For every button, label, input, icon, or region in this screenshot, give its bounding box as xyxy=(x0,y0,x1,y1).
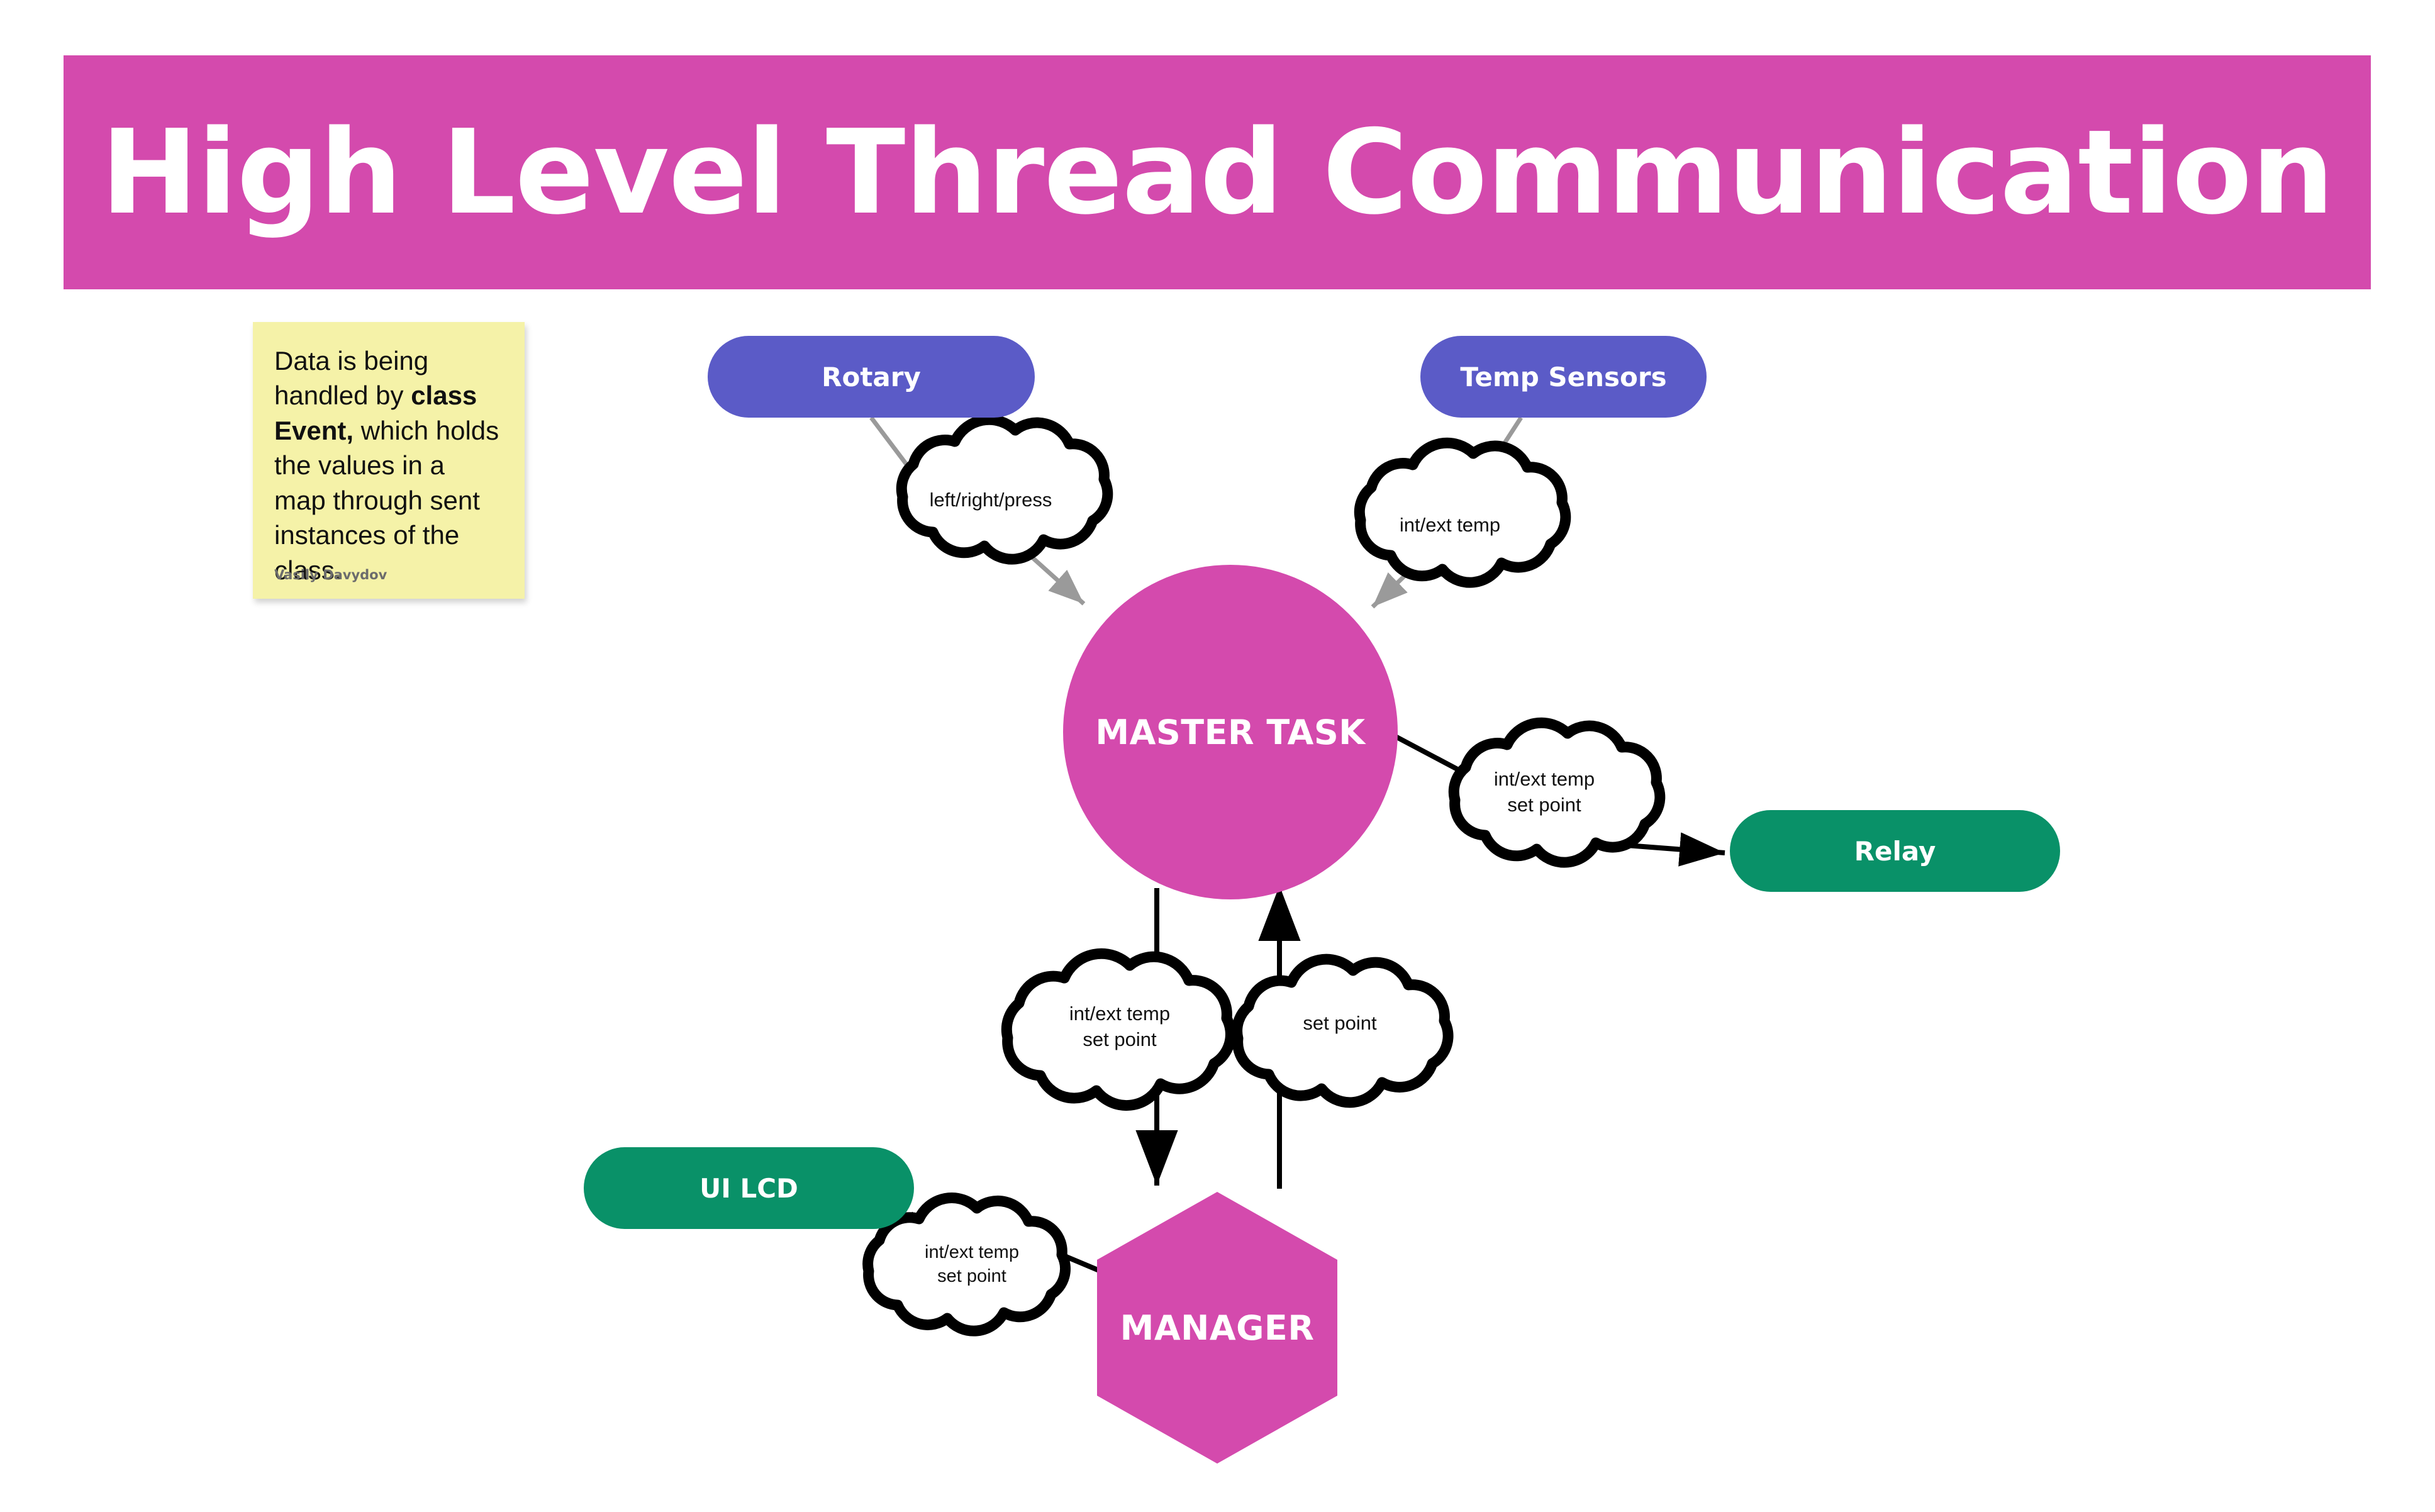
node-temp-sensors[interactable]: Temp Sensors xyxy=(1420,336,1707,418)
cloud-label-manager-to-lcd: int/ext temp set point xyxy=(878,1233,1066,1296)
title-banner: High Level Thread Communication xyxy=(64,55,2371,289)
edge-rotary-cloud-to-master xyxy=(1003,531,1084,604)
diagram-canvas: High Level Thread Communication Data is … xyxy=(0,0,2435,1512)
node-ui-lcd-label: UI LCD xyxy=(699,1173,798,1204)
node-rotary-label: Rotary xyxy=(822,362,921,392)
node-relay[interactable]: Relay xyxy=(1730,810,2060,892)
edge-temp-sensors-to-cloud xyxy=(1466,418,1521,503)
page-title: High Level Thread Communication xyxy=(101,114,2334,231)
cloud-label-manager-to-master: set point xyxy=(1239,1000,1440,1047)
node-master-task-label: MASTER TASK xyxy=(1095,713,1365,752)
cloud-temp-readings xyxy=(1359,443,1566,582)
node-rotary[interactable]: Rotary xyxy=(708,336,1035,418)
sticky-note-text: Data is being handled by class Event, wh… xyxy=(274,343,501,587)
sticky-note: Data is being handled by class Event, wh… xyxy=(253,322,525,599)
cloud-rotary-events xyxy=(901,420,1108,559)
edge-temp-cloud-to-master xyxy=(1373,547,1434,607)
cloud-label-rotary-events: left/right/press xyxy=(893,478,1088,522)
sticky-text-part-1: Data is being handled by xyxy=(274,346,428,410)
cloud-relay-setpoint xyxy=(1454,723,1660,862)
edge-manager-to-lcd-cloud xyxy=(1032,1242,1102,1272)
sticky-note-author: Vasily Davydov xyxy=(274,567,387,582)
node-relay-label: Relay xyxy=(1854,836,1936,867)
edge-relay-cloud-to-relay xyxy=(1610,844,1725,853)
node-temp-sensors-label: Temp Sensors xyxy=(1460,362,1666,392)
node-manager[interactable]: MANAGER xyxy=(1097,1192,1337,1464)
cloud-label-master-to-manager: int/ext temp set point xyxy=(1016,994,1223,1060)
node-ui-lcd[interactable]: UI LCD xyxy=(584,1147,914,1229)
cloud-label-temp-readings: int/ext temp xyxy=(1352,503,1547,547)
node-manager-label: MANAGER xyxy=(1120,1308,1315,1348)
cloud-manager-to-master xyxy=(1237,959,1448,1103)
edge-rotary-to-cloud xyxy=(871,418,931,497)
cloud-master-to-manager xyxy=(1006,953,1230,1105)
cloud-label-relay-setpoint: int/ext temp set point xyxy=(1447,761,1642,824)
edge-lcd-cloud-to-uilcd xyxy=(911,1214,969,1252)
node-master-task[interactable]: MASTER TASK xyxy=(1063,565,1398,899)
